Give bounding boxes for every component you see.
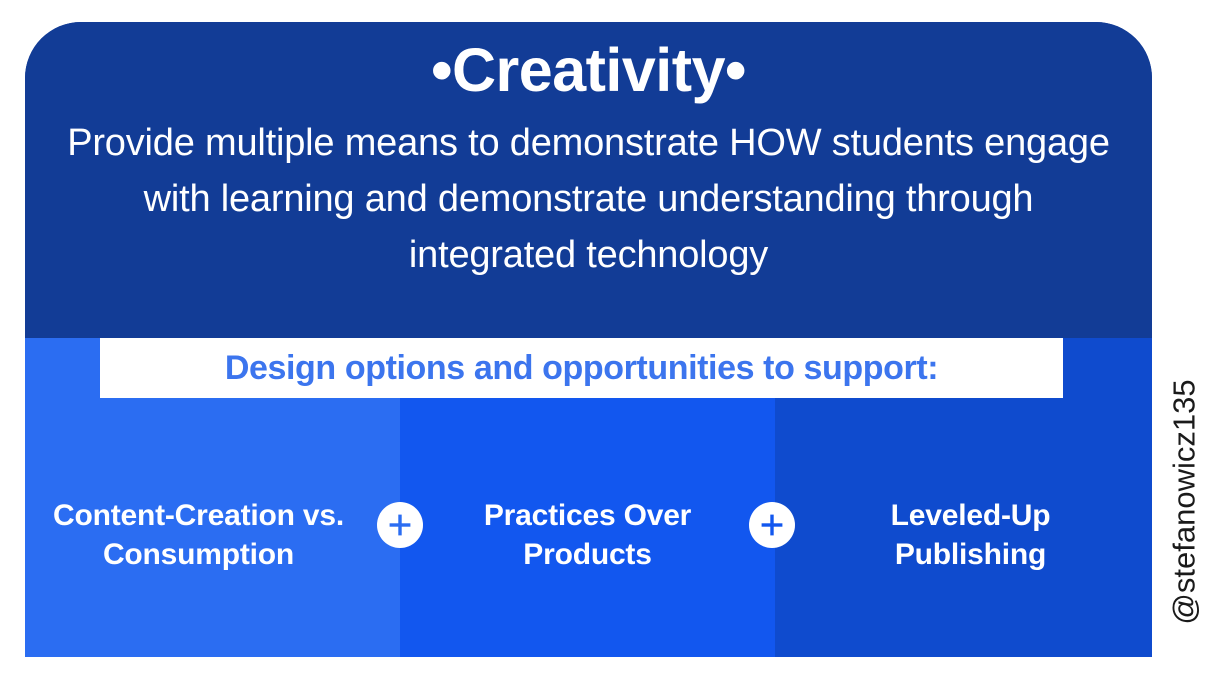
card-header: •Creativity• Provide multiple means to d… (25, 22, 1152, 338)
banner: Design options and opportunities to supp… (100, 338, 1063, 398)
plus-icon (377, 502, 423, 548)
page-title: •Creativity• (59, 22, 1118, 104)
column-label: Content-Creation vs. Consumption (51, 496, 374, 574)
column-label: Practices Over Products (426, 496, 749, 574)
creativity-card: •Creativity• Provide multiple means to d… (25, 22, 1152, 657)
card-subtitle: Provide multiple means to demonstrate HO… (59, 104, 1118, 284)
banner-text: Design options and opportunities to supp… (225, 349, 938, 388)
column-label: Leveled-Up Publishing (801, 496, 1126, 574)
handle-text: @stefanowicz135 (1167, 379, 1203, 624)
attribution-handle: @stefanowicz135 (1152, 336, 1218, 676)
slide-canvas: •Creativity• Provide multiple means to d… (0, 0, 1222, 700)
plus-icon (749, 502, 795, 548)
